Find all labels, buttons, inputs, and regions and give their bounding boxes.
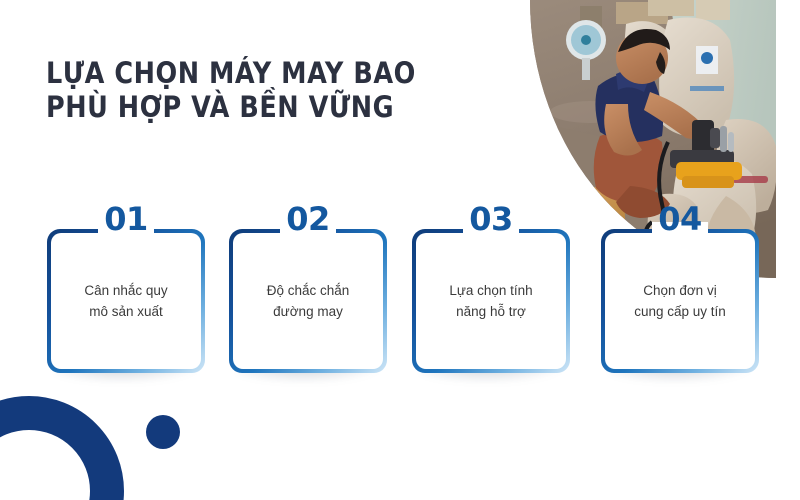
steps-list: Cân nhắc quy mô sản xuất 01 Độ chắc chắn…	[0, 0, 800, 500]
step-card-number: 01	[104, 203, 148, 235]
step-card-number: 04	[658, 203, 702, 235]
step-card-04[interactable]: Chọn đơn vị cung cấp uy tín 04	[601, 229, 759, 373]
step-card-text: Chọn đơn vị cung cấp uy tín	[626, 280, 734, 322]
card-frame: Cân nhắc quy mô sản xuất	[47, 229, 205, 373]
step-card-text: Độ chắc chắn đường may	[259, 280, 358, 322]
card-frame: Độ chắc chắn đường may	[229, 229, 387, 373]
step-card-text: Cân nhắc quy mô sản xuất	[76, 280, 175, 322]
card-inner: Lựa chọn tính năng hỗ trợ	[416, 233, 566, 369]
card-frame: Lựa chọn tính năng hỗ trợ	[412, 229, 570, 373]
step-card-01[interactable]: Cân nhắc quy mô sản xuất 01	[47, 229, 205, 373]
step-card-number: 02	[286, 203, 330, 235]
card-inner: Chọn đơn vị cung cấp uy tín	[605, 233, 755, 369]
infographic-canvas: LỰA CHỌN MÁY MAY BAO PHÙ HỢP VÀ BỀN VỮNG…	[0, 0, 800, 500]
card-frame: Chọn đơn vị cung cấp uy tín	[601, 229, 759, 373]
card-inner: Độ chắc chắn đường may	[233, 233, 383, 369]
card-inner: Cân nhắc quy mô sản xuất	[51, 233, 201, 369]
step-card-03[interactable]: Lựa chọn tính năng hỗ trợ 03	[412, 229, 570, 373]
step-card-02[interactable]: Độ chắc chắn đường may 02	[229, 229, 387, 373]
dot-circle-decoration	[146, 415, 180, 449]
step-card-number: 03	[469, 203, 513, 235]
step-card-text: Lựa chọn tính năng hỗ trợ	[441, 280, 540, 322]
